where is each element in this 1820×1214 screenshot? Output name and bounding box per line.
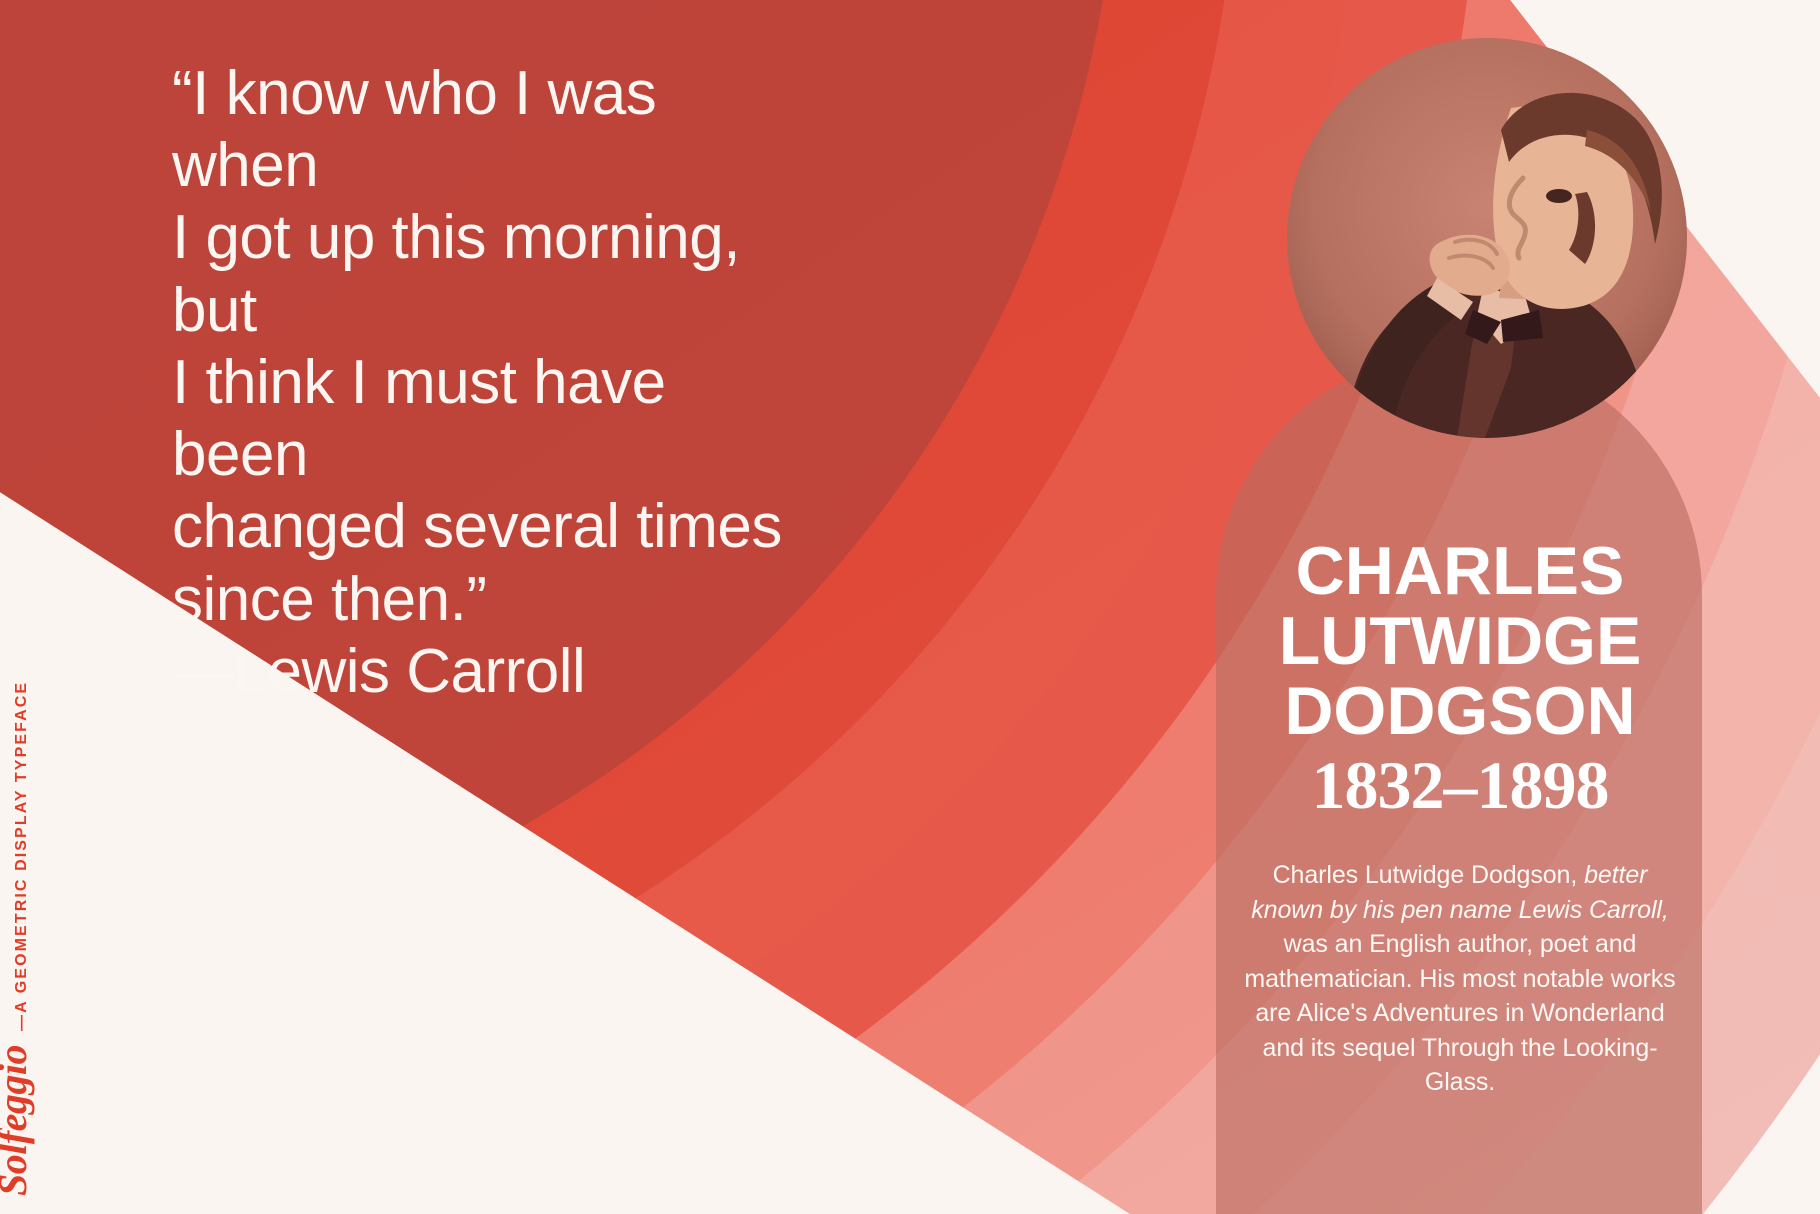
subject-years: 1832–1898	[1240, 750, 1680, 820]
subject-name: CHARLES LUTWIDGE DODGSON	[1240, 536, 1680, 746]
subject-bio-column: CHARLES LUTWIDGE DODGSON 1832–1898 Charl…	[1240, 536, 1680, 1100]
brand-tagline: —A GEOMETRIC DISPLAY TYPEFACE	[13, 681, 31, 1031]
bio-rest: was an English author, poet and mathemat…	[1244, 930, 1675, 1096]
type-specimen-poster: “I know who I was when I got up this mor…	[0, 0, 1820, 1214]
bio-lead: Charles Lutwidge Dodgson,	[1273, 861, 1578, 889]
subject-biography: Charles Lutwidge Dodgson, better known b…	[1240, 858, 1680, 1100]
brand-rail: Solfeggio —A GEOMETRIC DISPLAY TYPEFACE	[0, 681, 36, 1196]
portrait-illustration	[1287, 38, 1687, 438]
portrait-avatar	[1287, 38, 1687, 438]
brand-wordmark: Solfeggio	[0, 1045, 36, 1196]
